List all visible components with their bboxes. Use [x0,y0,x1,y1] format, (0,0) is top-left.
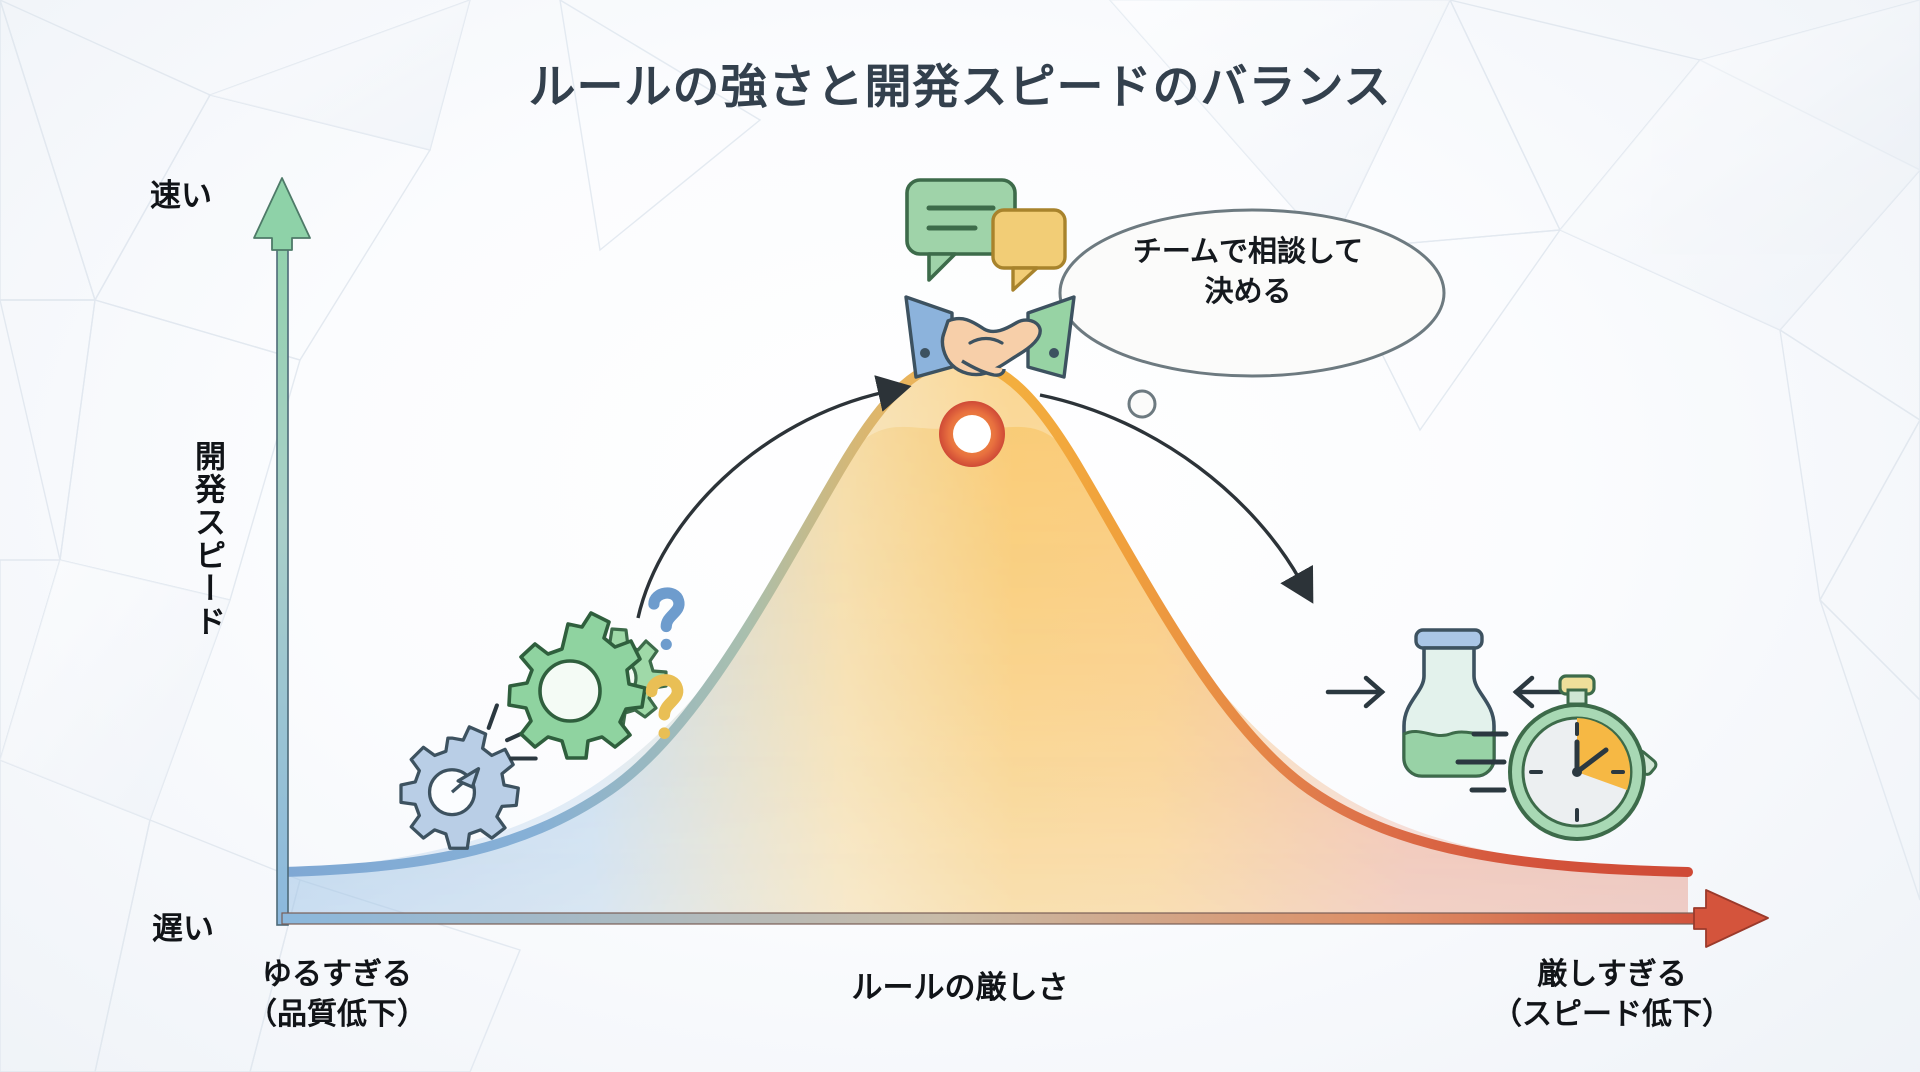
chat-bubbles-icon [907,180,1065,290]
peak-marker-icon [939,401,1005,467]
y-axis-title: 開発スピード [185,440,230,638]
x-axis-left-label: ゆるすぎる （品質低下） [172,955,502,1034]
page-title: ルールの強さと開発スピードのバランス [0,48,1920,117]
x-axis-right-label: 厳しすぎる （スピード低下） [1432,955,1792,1034]
y-axis-bottom-label: 遅い [152,903,214,948]
handshake-icon [906,297,1074,377]
gears-question-icon [509,593,679,758]
speech-bubble-text: チームで相談して 決める [1078,232,1418,312]
y-axis [254,178,310,925]
y-axis-top-label: 速い [150,170,212,215]
bell-curve-chart [0,0,1920,1072]
infographic-canvas: ルールの強さと開発スピードのバランス 速い 遅い 開発スピード ルールの厳しさ … [0,0,1920,1072]
